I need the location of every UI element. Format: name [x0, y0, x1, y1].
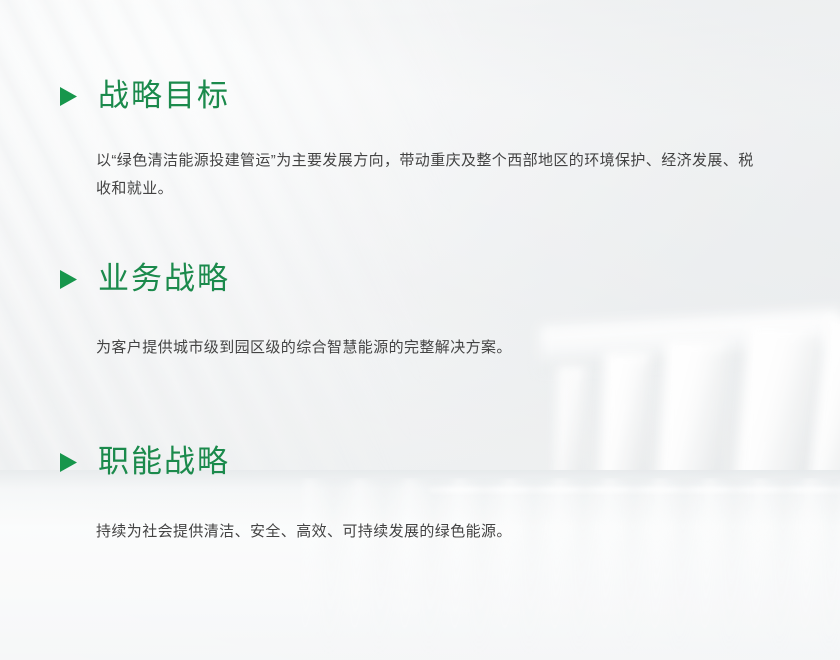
strategy-section-business-strategy: 业务战略 为客户提供城市级到园区级的综合智慧能源的完整解决方案。 — [0, 257, 840, 362]
section-title: 职能战略 — [77, 440, 230, 484]
section-title: 业务战略 — [77, 257, 230, 301]
triangle-right-icon — [60, 453, 77, 472]
section-title: 战略目标 — [77, 74, 230, 118]
section-body-text: 为客户提供城市级到园区级的综合智慧能源的完整解决方案。 — [0, 334, 756, 362]
section-heading-row: 职能战略 — [0, 440, 840, 484]
triangle-right-icon — [60, 270, 77, 289]
section-heading-row: 业务战略 — [0, 257, 840, 301]
section-body-text: 持续为社会提供清洁、安全、高效、可持续发展的绿色能源。 — [0, 518, 756, 546]
section-body-text: 以“绿色清洁能源投建管运”为主要发展方向，带动重庆及整个西部地区的环境保护、经济… — [0, 147, 756, 203]
strategy-section-strategic-goal: 战略目标 以“绿色清洁能源投建管运”为主要发展方向，带动重庆及整个西部地区的环境… — [0, 74, 840, 203]
slide-canvas: 战略目标 以“绿色清洁能源投建管运”为主要发展方向，带动重庆及整个西部地区的环境… — [0, 0, 840, 660]
triangle-right-icon — [60, 87, 77, 106]
content-container: 战略目标 以“绿色清洁能源投建管运”为主要发展方向，带动重庆及整个西部地区的环境… — [0, 0, 840, 660]
section-heading-row: 战略目标 — [0, 74, 840, 118]
strategy-section-functional-strategy: 职能战略 持续为社会提供清洁、安全、高效、可持续发展的绿色能源。 — [0, 440, 840, 546]
